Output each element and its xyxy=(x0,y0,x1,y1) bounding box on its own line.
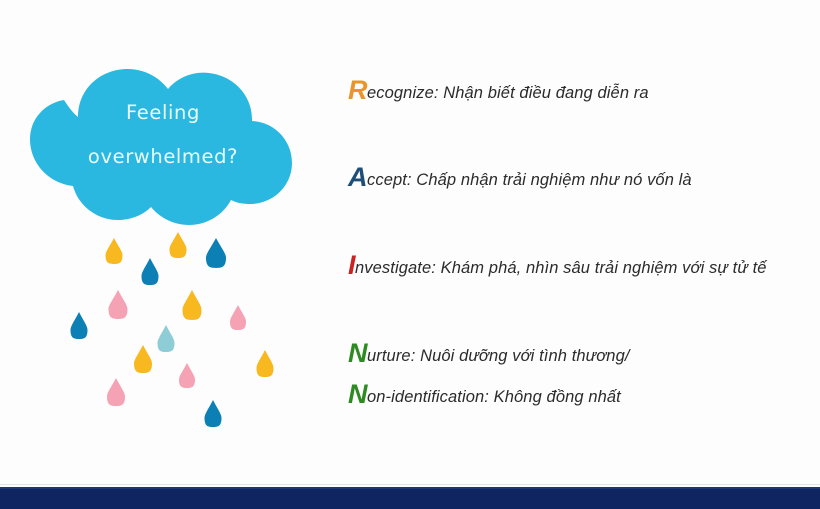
rain-item-non-identification: Non-identification: Không đồng nhất xyxy=(348,388,621,407)
raindrop xyxy=(107,378,125,406)
bottom-divider-line xyxy=(0,484,820,485)
rain-item-nurture: Nurture: Nuôi dưỡng với tình thương/ xyxy=(348,347,630,366)
raindrop xyxy=(71,312,88,339)
rain-text-recognize: ecognize: Nhận biết điều đang diễn ra xyxy=(367,84,649,102)
bottom-bar-highlight xyxy=(0,487,820,489)
bottom-bar xyxy=(0,487,820,509)
raindrop xyxy=(230,305,246,330)
slide-canvas: Feeling overwhelmed? Recognize: Nhận biế… xyxy=(0,0,820,509)
rain-initial-a: A xyxy=(348,162,367,192)
raindrop xyxy=(109,290,128,319)
raindrop xyxy=(170,232,187,258)
rain-text-nurture: urture: Nuôi dưỡng với tình thương/ xyxy=(367,347,630,365)
rain-item-investigate: Investigate: Khám phá, nhìn sâu trải ngh… xyxy=(348,259,767,278)
cloud-illustration: Feeling overwhelmed? xyxy=(18,55,308,235)
raindrop xyxy=(106,238,123,264)
raindrop xyxy=(206,238,226,268)
raindrop xyxy=(142,258,159,285)
rain-initial-n-non-identification: N xyxy=(348,379,367,409)
rain-text-non-identification: on-identification: Không đồng nhất xyxy=(367,388,621,406)
rain-item-recognize: Recognize: Nhận biết điều đang diễn ra xyxy=(348,84,649,103)
raindrop xyxy=(134,345,152,373)
cloud-shape-icon xyxy=(18,55,308,235)
raindrop xyxy=(257,350,274,377)
raindrop xyxy=(205,400,222,427)
rain-initial-n-nurture: N xyxy=(348,338,367,368)
rain-initial-r: R xyxy=(348,75,367,105)
rain-item-accept: Accept: Chấp nhận trải nghiệm như nó vốn… xyxy=(348,171,692,190)
rain-initial-i: I xyxy=(348,250,355,280)
rain-text-investigate: nvestigate: Khám phá, nhìn sâu trải nghi… xyxy=(355,259,767,277)
rain-text-accept: ccept: Chấp nhận trải nghiệm như nó vốn … xyxy=(367,171,692,189)
raindrop xyxy=(179,363,195,388)
raindrop xyxy=(183,290,202,320)
raindrop xyxy=(158,325,175,352)
